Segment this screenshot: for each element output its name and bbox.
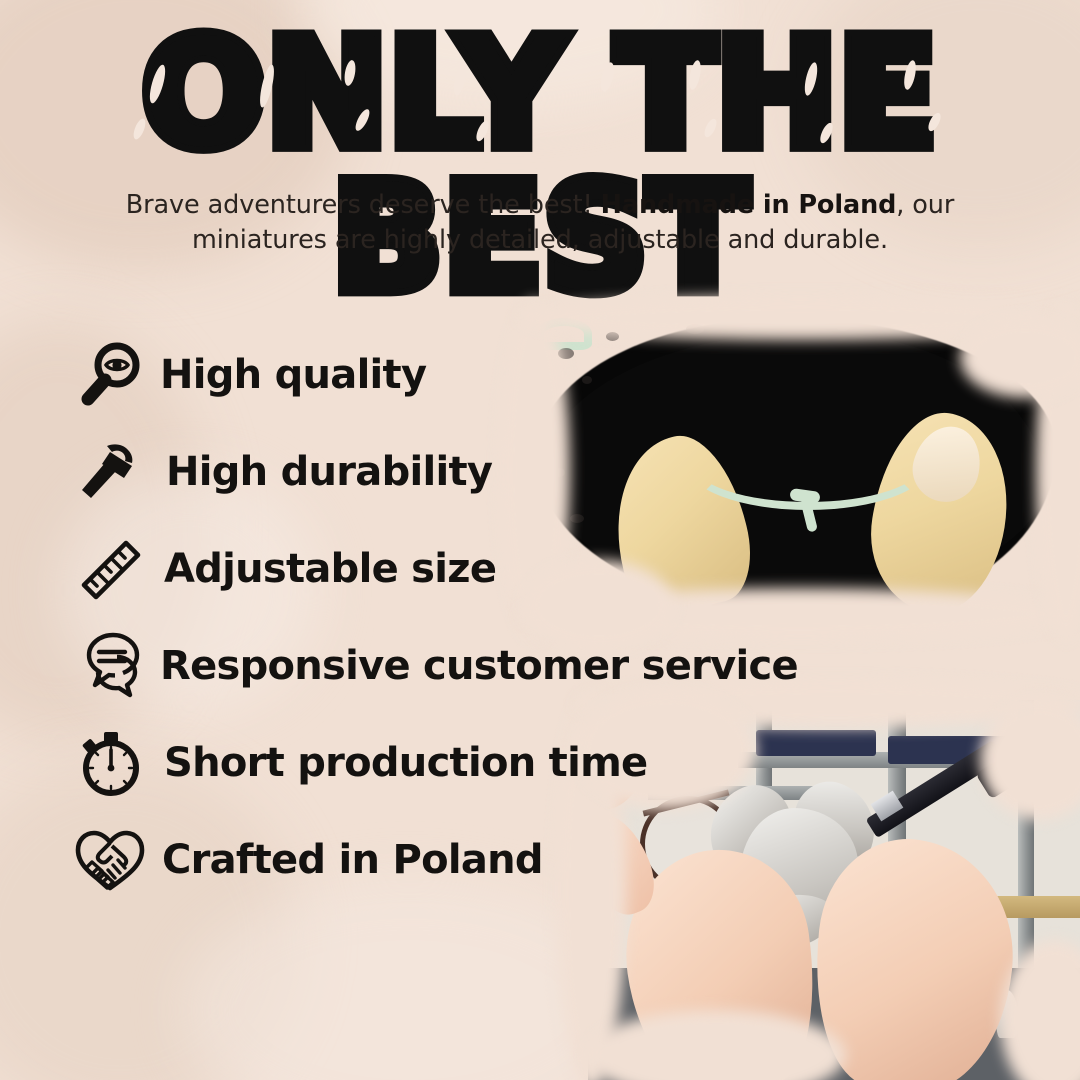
title-block: ONLY THE BEST <box>0 38 1080 297</box>
feature-row-adjustable-size[interactable]: Adjustable size <box>62 520 782 617</box>
ink-speck <box>836 322 850 331</box>
ruler-icon <box>62 533 158 605</box>
feature-list: High quality High durability <box>62 326 782 908</box>
poster: ONLY THE BEST Brave adventurers deserve … <box>0 0 1080 1080</box>
handshake-heart-icon <box>62 824 158 896</box>
feature-row-crafted-in-poland[interactable]: Crafted in Poland <box>62 811 782 908</box>
subtitle-highlight: Handmade in Poland <box>601 190 897 220</box>
speech-bubbles-icon <box>62 629 158 703</box>
feature-row-high-durability[interactable]: High durability <box>62 423 782 520</box>
feature-label: High durability <box>166 449 492 495</box>
feature-label: High quality <box>160 352 426 398</box>
subtitle: Brave adventurers deserve the best! Hand… <box>90 188 990 257</box>
page-title: ONLY THE BEST <box>0 22 1080 312</box>
stopwatch-icon <box>62 726 158 800</box>
feature-row-responsive-customer-service[interactable]: Responsive customer service <box>62 617 782 714</box>
paper-texture-blob <box>180 880 640 1080</box>
feature-label: Crafted in Poland <box>162 837 543 883</box>
feature-row-short-production-time[interactable]: Short production time <box>62 714 782 811</box>
feature-row-high-quality[interactable]: High quality <box>62 326 782 423</box>
subtitle-lead: Brave adventurers deserve the best! <box>126 190 593 220</box>
hammer-icon <box>62 436 158 508</box>
magnifier-eye-icon <box>62 339 158 411</box>
feature-label: Short production time <box>164 740 647 786</box>
feature-label: Responsive customer service <box>160 643 798 689</box>
feature-label: Adjustable size <box>164 546 496 592</box>
